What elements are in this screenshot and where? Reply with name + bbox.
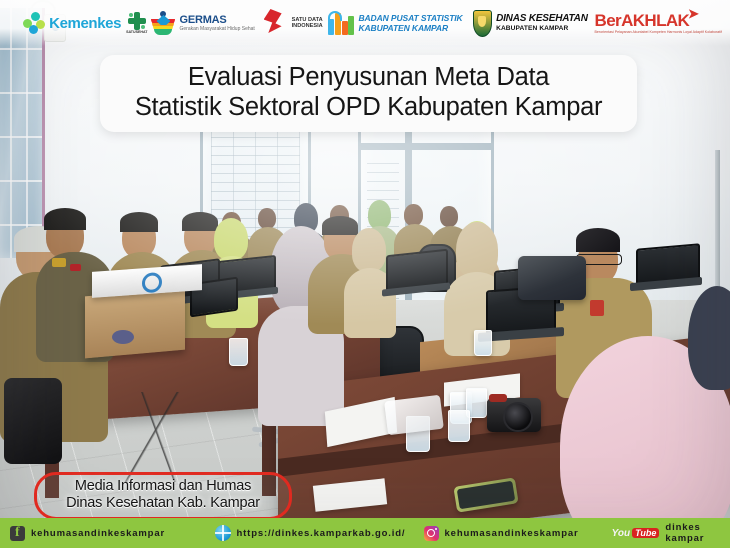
youtube-icon: You Tube bbox=[612, 528, 660, 539]
berakhlak-arrow-icon: ➤ bbox=[688, 7, 698, 20]
facebook-icon bbox=[10, 526, 25, 541]
germas-label: GERMAS bbox=[179, 15, 254, 26]
title-line-1: Evaluasi Penyusunan Meta Data bbox=[118, 63, 619, 93]
backpack bbox=[4, 378, 62, 464]
logo-badan-pusat-statistik: BADAN PUSAT STATISTIK KABUPATEN KAMPAR bbox=[328, 11, 462, 35]
berakhlak-label: BerAKHLAK ➤ bbox=[595, 12, 690, 29]
bps-line1: BADAN PUSAT STATISTIK bbox=[358, 13, 462, 23]
facebook-handle: kehumasandinkeskampar bbox=[31, 528, 165, 539]
floor-cables bbox=[120, 392, 190, 482]
poster-canvas: Kemenkes SATUSEHAT GERMAS bbox=[0, 0, 730, 548]
satusehat-cross-icon bbox=[128, 12, 146, 25]
dslr-camera bbox=[487, 398, 541, 432]
youtube-you-text: You bbox=[612, 528, 631, 539]
youtube-tube-text: Tube bbox=[632, 528, 659, 538]
bps-label: BADAN PUSAT STATISTIK KABUPATEN KAMPAR bbox=[358, 13, 462, 33]
kemenkes-label: Kemenkes bbox=[49, 15, 121, 32]
logo-berakhlak: BerAKHLAK ➤ Berorientasi Pelayanan Akunt… bbox=[595, 12, 722, 34]
bps-line2: KABUPATEN KAMPAR bbox=[358, 23, 448, 33]
footer-instagram[interactable]: kehumasandinkeskampar bbox=[424, 526, 579, 541]
instagram-icon bbox=[424, 526, 439, 541]
logo-dinas-kesehatan: DINAS KESEHATAN KABUPATEN KAMPAR bbox=[473, 10, 588, 37]
footer-facebook[interactable]: kehumasandinkeskampar bbox=[10, 526, 165, 541]
water-glass-5 bbox=[229, 338, 248, 366]
kampar-crest-icon bbox=[473, 10, 492, 37]
germas-icon bbox=[151, 11, 175, 35]
title-card: Evaluasi Penyusunan Meta Data Statistik … bbox=[100, 55, 637, 132]
water-glass-4 bbox=[448, 410, 470, 442]
website-globe-icon bbox=[215, 525, 231, 541]
dinkes-label: DINAS KESEHATAN bbox=[496, 14, 588, 24]
caption-line-1: Media Informasi dan Humas bbox=[47, 478, 279, 495]
logo-kemenkes: Kemenkes bbox=[23, 12, 121, 34]
footer-youtube[interactable]: You Tube dinkes kampar bbox=[612, 522, 720, 544]
berakhlak-text: BerAKHLAK bbox=[595, 11, 690, 30]
satu-data-indonesia-label: SATU DATAINDONESIA bbox=[292, 17, 323, 30]
germas-sublabel: Gerakan Masyarakat Hidup Sehat bbox=[179, 27, 254, 32]
satusehat-label: SATUSEHAT bbox=[126, 30, 147, 34]
website-url: https://dinkes.kamparkab.go.id/ bbox=[237, 528, 406, 539]
computer-mouse bbox=[112, 330, 134, 344]
caption-box: Media Informasi dan Humas Dinas Kesehata… bbox=[34, 472, 292, 520]
water-glass-6 bbox=[474, 330, 492, 356]
youtube-handle: dinkes kampar bbox=[665, 522, 720, 544]
laptop-bag bbox=[518, 256, 586, 300]
instagram-handle: kehumasandinkeskampar bbox=[445, 528, 579, 539]
kemenkes-icon bbox=[23, 12, 45, 34]
caption-line-2: Dinas Kesehatan Kab. Kampar bbox=[47, 495, 279, 512]
logo-germas: GERMAS Gerakan Masyarakat Hidup Sehat bbox=[151, 11, 254, 35]
berakhlak-sublabel: Berorientasi Pelayanan Akuntabel Kompete… bbox=[595, 30, 722, 34]
logo-satu-data-indonesia: SATU DATAINDONESIA bbox=[262, 9, 323, 37]
satu-data-indonesia-icon bbox=[262, 9, 288, 37]
title-line-2: Statistik Sektoral OPD Kabupaten Kampar bbox=[118, 93, 619, 123]
social-footer-bar: kehumasandinkeskampar https://dinkes.kam… bbox=[0, 518, 730, 548]
cardboard-box bbox=[85, 288, 185, 359]
tissue-pack bbox=[384, 395, 444, 436]
dinkes-sublabel: KABUPATEN KAMPAR bbox=[496, 26, 588, 33]
footer-website[interactable]: https://dinkes.kamparkab.go.id/ bbox=[215, 525, 406, 541]
logo-header-band: Kemenkes SATUSEHAT GERMAS bbox=[0, 0, 730, 46]
logo-satusehat: SATUSEHAT bbox=[127, 12, 147, 34]
bps-icon bbox=[328, 11, 354, 35]
